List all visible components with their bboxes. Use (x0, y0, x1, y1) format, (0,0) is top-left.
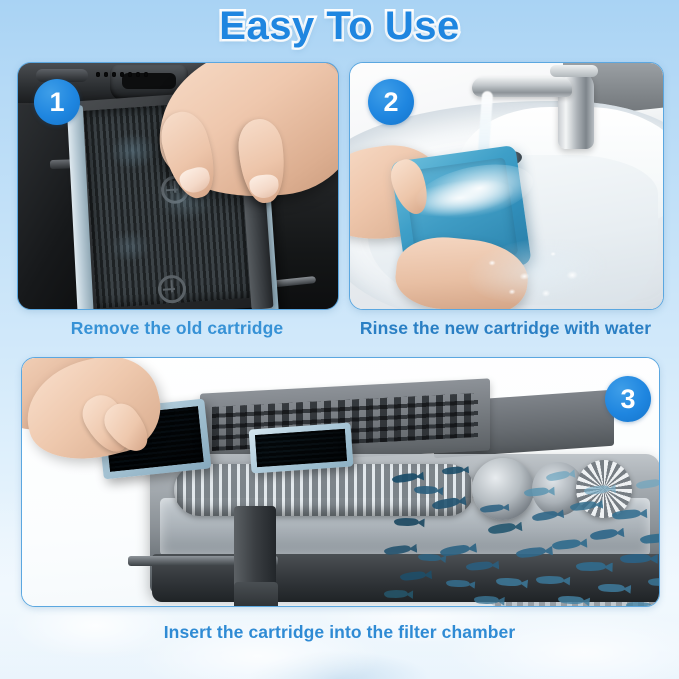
fish (496, 577, 523, 588)
step-caption-3: Insert the cartridge into the filter cha… (21, 622, 658, 643)
fish (384, 545, 412, 555)
fish (446, 579, 471, 588)
vent-slot (144, 72, 148, 77)
fish (488, 523, 517, 535)
fish (640, 533, 660, 544)
vent-slot (120, 72, 124, 77)
fish (558, 595, 585, 606)
cartridge-media-face (255, 429, 347, 467)
cartridge-hole-icon (157, 274, 187, 304)
fish (626, 601, 653, 607)
fish (648, 577, 660, 586)
step-caption-2: Rinse the new cartridge with water (349, 318, 662, 339)
fish (474, 595, 499, 605)
step-3-image (22, 358, 659, 606)
bracket-foot (234, 582, 278, 607)
fish (584, 485, 610, 495)
fish (516, 547, 547, 559)
step-caption-1: Remove the old cartridge (17, 318, 337, 339)
fish (442, 466, 464, 474)
faucet-lever (550, 65, 598, 77)
fish (384, 590, 408, 599)
step-badge-2: 2 (368, 79, 414, 125)
fish (392, 473, 419, 484)
fish (414, 485, 438, 495)
step-badge-1: 1 (34, 79, 80, 125)
step-panel-1: 1 (17, 62, 339, 310)
fish (394, 517, 419, 526)
fish (620, 554, 651, 564)
fish-school (384, 450, 660, 607)
step-panel-3: 3 (21, 357, 660, 607)
fish (546, 470, 571, 481)
fish (466, 561, 493, 570)
page-title: Easy To Use (219, 4, 459, 49)
fish (400, 571, 426, 581)
fish (532, 510, 559, 521)
fish (598, 583, 625, 593)
vent-slot (104, 72, 108, 77)
vent-slot (136, 72, 140, 77)
fish (536, 575, 564, 584)
fish (590, 529, 619, 541)
fish (480, 504, 504, 513)
fish (576, 561, 606, 571)
title-container: Easy To Use (0, 4, 679, 49)
fish (418, 553, 442, 562)
fish (552, 539, 582, 550)
vent-slot (128, 72, 132, 77)
infographic-page: Easy To Use (0, 0, 679, 679)
fish (432, 497, 461, 510)
fish (570, 501, 598, 511)
step-panel-2: 2 (349, 62, 664, 310)
installed-cartridge (249, 422, 354, 473)
fish (636, 479, 660, 490)
fish (524, 487, 549, 496)
step-badge-3: 3 (605, 376, 651, 422)
vent-slot (112, 72, 116, 77)
vent-slot (96, 72, 100, 77)
fish (440, 544, 471, 557)
fish (612, 509, 641, 520)
fingernail (249, 173, 280, 199)
